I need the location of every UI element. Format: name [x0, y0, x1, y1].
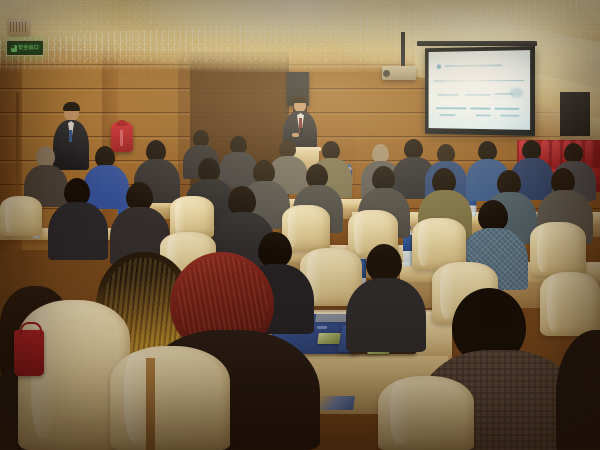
- slide-footer-line: [495, 108, 520, 110]
- chair-cover: [540, 272, 600, 336]
- slide-footer-line: [436, 107, 467, 109]
- projector-lens-icon: [383, 70, 390, 77]
- pa-speaker-cabinet: [560, 92, 590, 136]
- backpack-handle: [116, 120, 128, 126]
- slide-footer-line: [476, 114, 491, 116]
- audience-head: [258, 232, 292, 268]
- audience-head: [478, 141, 497, 161]
- exit-sign-text: 安全出口: [18, 46, 39, 51]
- chair-cover: [0, 196, 42, 236]
- slide-footer-line: [500, 115, 519, 117]
- slide-bullet: [437, 64, 441, 69]
- audience-head: [404, 139, 423, 159]
- chair-sash: [146, 358, 155, 450]
- presenter-hair: [293, 97, 307, 103]
- snack-packet: [317, 333, 341, 344]
- chair-cover: [110, 346, 230, 450]
- audience-head: [366, 244, 402, 282]
- audience-head: [522, 140, 541, 160]
- slide-footer-line: [470, 107, 491, 109]
- audience-torso: [556, 330, 600, 450]
- wall-speaker-icon: [8, 19, 30, 35]
- exit-sign: 安全出口: [6, 40, 44, 56]
- speaker-grille: [10, 22, 28, 32]
- chair-cover: [378, 376, 474, 450]
- folder-emboss: [317, 326, 327, 329]
- wall-handrail: [16, 92, 19, 207]
- microphone-icon: [300, 128, 303, 137]
- audience-torso: [83, 165, 129, 209]
- chair-cover: [530, 222, 586, 276]
- slide-surface: [429, 50, 530, 130]
- slide-footer-line: [439, 114, 455, 116]
- backpack-strap: [120, 130, 123, 146]
- audience-head: [36, 146, 55, 167]
- projector-mount: [401, 32, 405, 70]
- lanyard-badge-icon: [69, 130, 72, 142]
- conference-hall-photo: 安全出口: [0, 0, 600, 450]
- presenter-hand: [292, 133, 299, 137]
- audience-head: [564, 143, 583, 163]
- standing-person-hair: [63, 102, 80, 111]
- running-man-icon: [11, 45, 17, 52]
- slide-glare: [442, 58, 515, 106]
- screen-roller: [417, 41, 537, 46]
- handbag-handle: [20, 322, 42, 336]
- audience-torso: [48, 202, 108, 260]
- projection-screen: [425, 46, 535, 136]
- audience-torso: [346, 278, 426, 352]
- red-handbag: [14, 330, 44, 376]
